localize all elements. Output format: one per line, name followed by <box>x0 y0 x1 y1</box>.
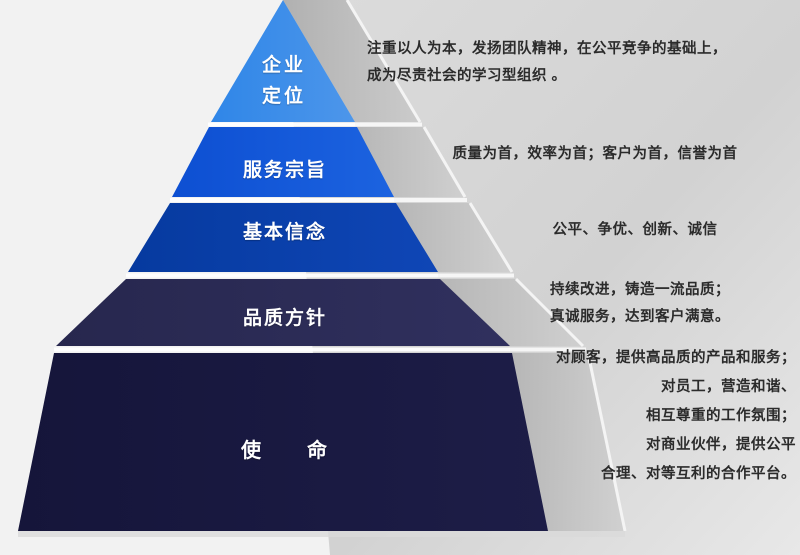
tier-description-1: 质量为首，效率为首；客户为首，信誉为首 <box>400 141 790 168</box>
tier-1-shape <box>172 127 394 197</box>
tier-3-shape <box>56 279 510 346</box>
tier-description-0: 注重以人为本，发扬团队精神，在公平竞争的基础上， 成为尽责社会的学习型组织 。 <box>367 36 791 90</box>
tier-description-3: 持续改进，铸造一流品质； 真诚服务，达到客户满意。 <box>490 277 790 331</box>
tier-description-4: 对顾客，提供高品质的产品和服务； 对员工，营造和谐、 相互尊重的工作氛围； 对商… <box>540 344 796 489</box>
tier-4-shape <box>18 353 548 531</box>
tier-description-2: 公平、争优、创新、诚信 <box>480 217 790 244</box>
pyramid-diagram: 企业 定位 服务宗旨 基本信念 品质方针 使 命 注重以人为本，发扬团队精神，在… <box>0 0 800 555</box>
tier-2-shape <box>128 203 438 272</box>
pyramid-base-shadow <box>18 531 625 537</box>
